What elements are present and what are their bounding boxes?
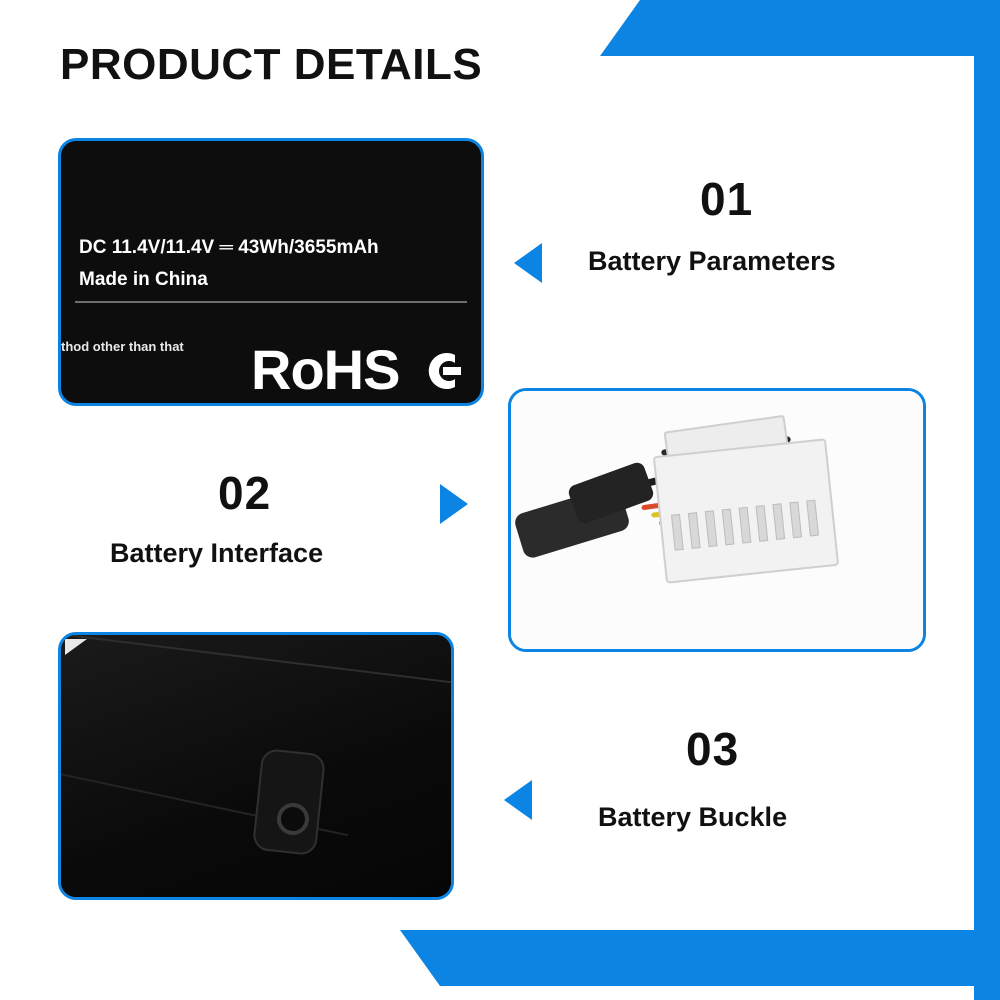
step-02-arrow-icon xyxy=(440,484,468,524)
label-origin-line: Made in China xyxy=(79,269,208,291)
right-accent-bar xyxy=(974,0,1000,1000)
top-accent-wedge xyxy=(600,0,1000,56)
step-02-label: Battery Interface xyxy=(110,538,323,569)
connector-pin xyxy=(688,512,701,549)
connector-pin xyxy=(756,505,769,542)
page-title: PRODUCT DETAILS xyxy=(60,40,482,90)
label-divider xyxy=(75,301,467,303)
bottom-accent-wedge xyxy=(400,930,1000,986)
connector-pin xyxy=(739,507,752,544)
step-01-label: Battery Parameters xyxy=(588,246,836,277)
connector-shell xyxy=(653,438,839,583)
label-spec-line: DC 11.4V/11.4V ═ 43Wh/3655mAh xyxy=(79,237,379,259)
battery-buckle-photo xyxy=(58,632,454,900)
product-details-page: PRODUCT DETAILS DC 11.4V/11.4V ═ 43Wh/36… xyxy=(0,0,1000,1000)
step-03-arrow-icon xyxy=(504,780,532,820)
battery-label-photo: DC 11.4V/11.4V ═ 43Wh/3655mAh Made in Ch… xyxy=(58,138,484,406)
connector-pin xyxy=(722,509,735,546)
step-03-number: 03 xyxy=(686,722,739,776)
buckle-tab xyxy=(252,748,326,856)
connector-pin xyxy=(772,503,785,540)
connector-pin xyxy=(671,514,684,551)
connector-pin xyxy=(806,500,819,537)
rohs-text: RoHS xyxy=(251,337,399,402)
step-01-arrow-icon xyxy=(514,243,542,283)
connector-pin xyxy=(705,510,718,547)
label-warning-line: thod other than that xyxy=(61,339,184,354)
step-01-number: 01 xyxy=(700,172,753,226)
step-02-number: 02 xyxy=(218,466,271,520)
rohs-mark-icon xyxy=(421,349,465,393)
step-03-label: Battery Buckle xyxy=(598,802,787,833)
connector-pin xyxy=(789,501,802,538)
battery-connector-photo xyxy=(508,388,926,652)
buckle-plate xyxy=(58,632,454,900)
